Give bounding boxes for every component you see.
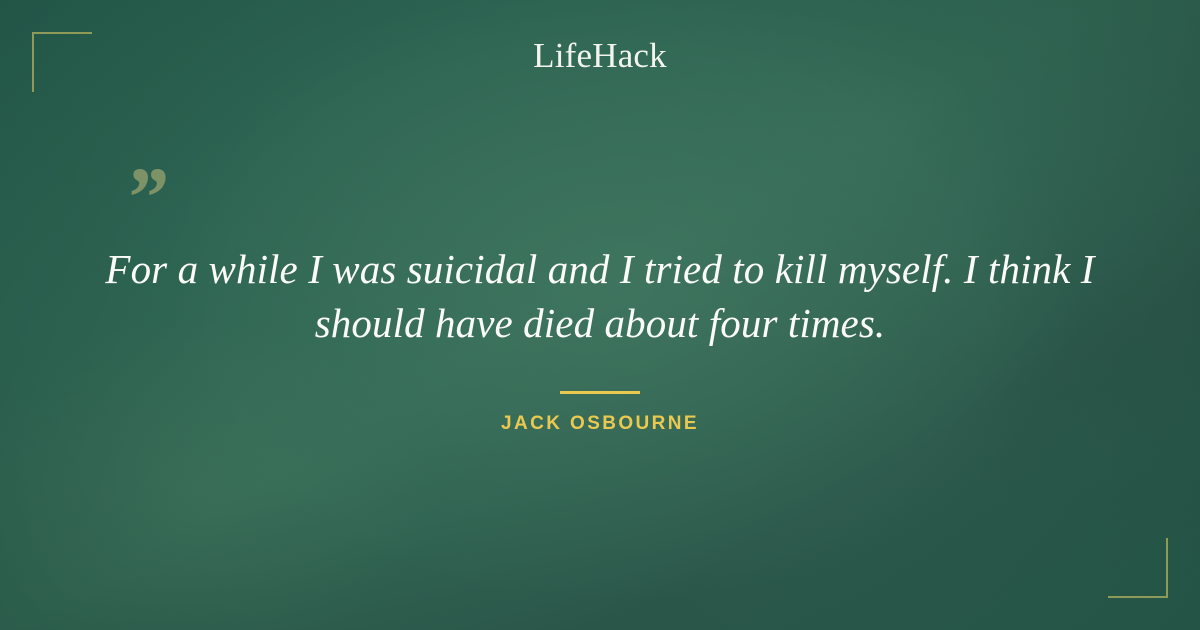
quotation-mark-icon: ” — [124, 154, 167, 240]
quote-text: For a while I was suicidal and I tried t… — [0, 160, 1200, 350]
gold-divider — [560, 391, 640, 394]
quote-author: JACK OSBOURNE — [0, 414, 1200, 433]
divider-wrap — [0, 381, 1200, 399]
quote-card: LifeHack ” For a while I was suicidal an… — [0, 0, 1200, 630]
corner-bracket-bottom-right-icon — [1108, 538, 1168, 598]
brand-logo: LifeHack — [0, 38, 1200, 73]
quote-block: ” For a while I was suicidal and I tried… — [0, 160, 1200, 350]
